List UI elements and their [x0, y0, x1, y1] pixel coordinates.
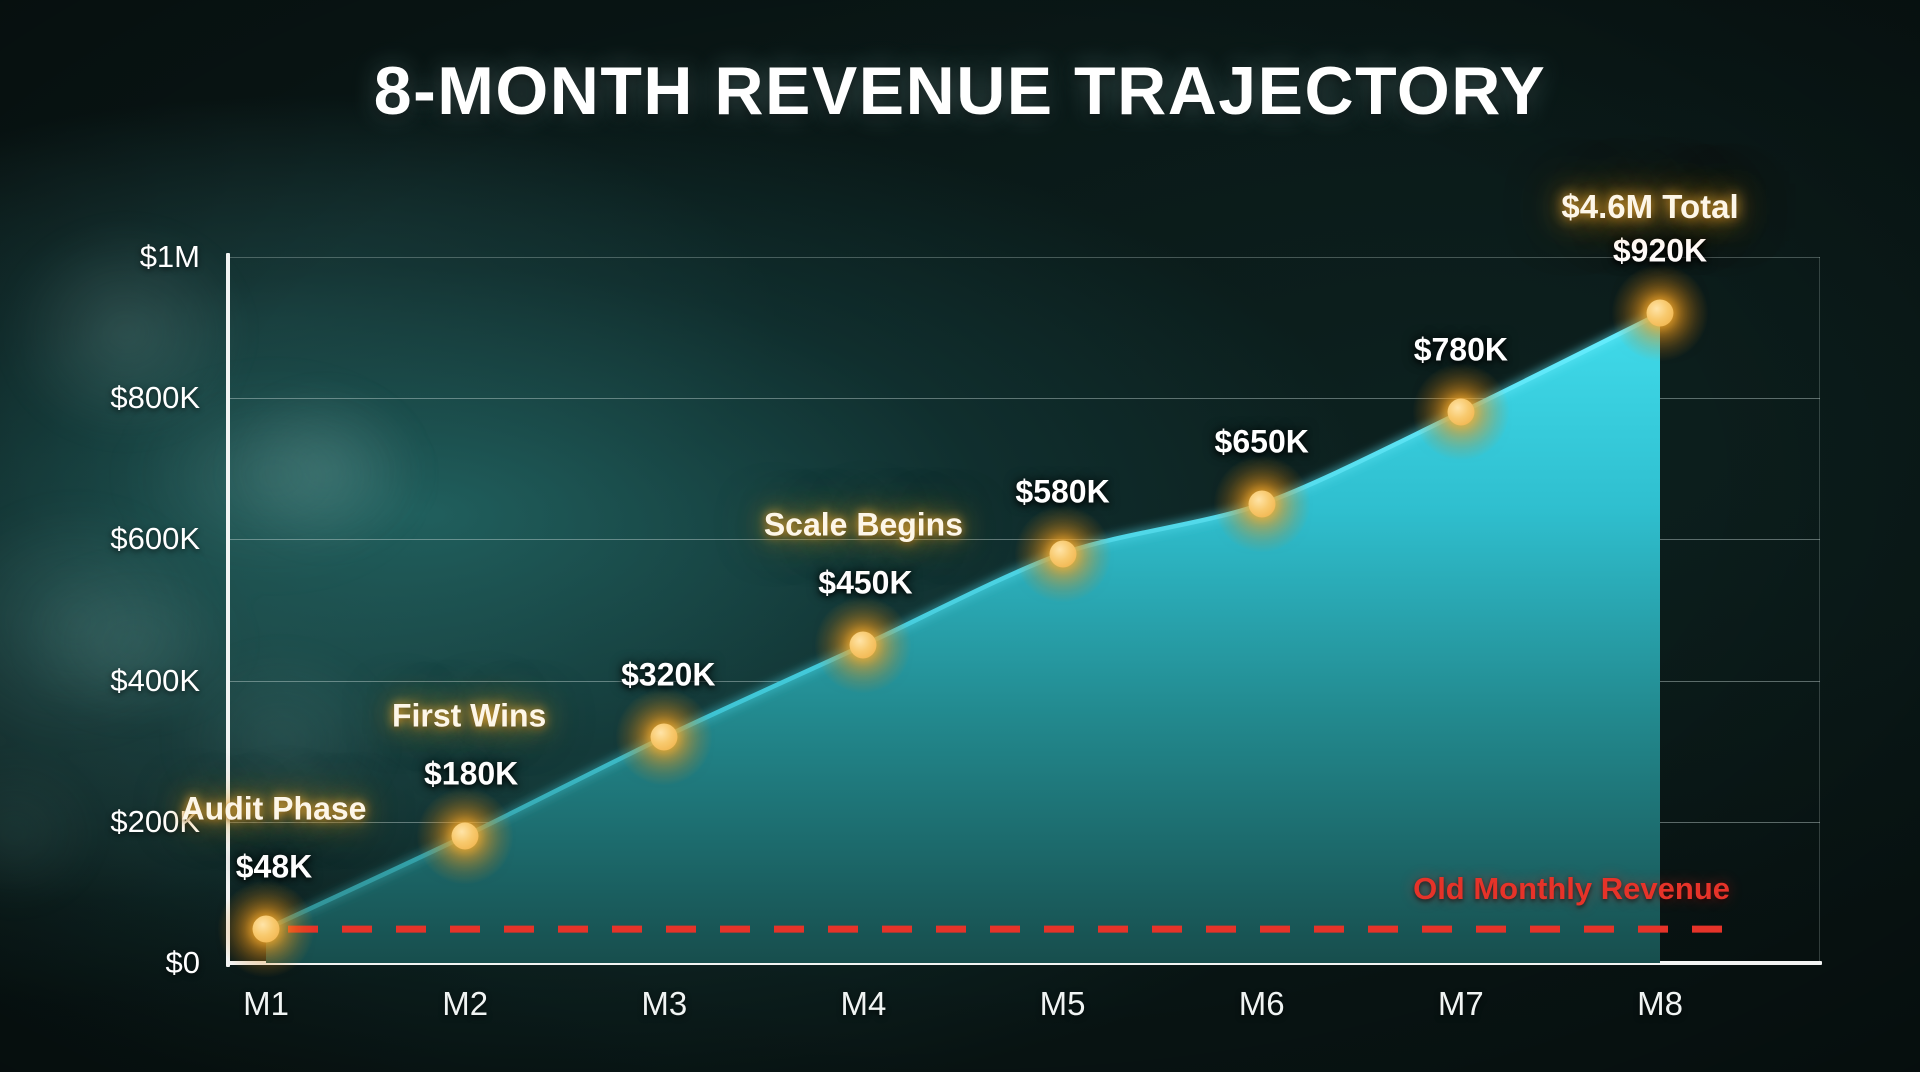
- y-tick-label: $400K: [110, 663, 200, 699]
- gridline: [228, 398, 1820, 399]
- value-label-m8: $920K: [1613, 233, 1707, 270]
- plot-right-edge: [1819, 257, 1820, 963]
- data-point-m6[interactable]: [1248, 491, 1275, 518]
- x-tick-label-m8: M8: [1637, 985, 1683, 1023]
- value-label-m3: $320K: [621, 657, 715, 694]
- value-label-m6: $650K: [1215, 424, 1309, 461]
- y-tick-label: $0: [166, 945, 200, 981]
- value-label-m4: $450K: [818, 565, 912, 602]
- y-tick-label: $1M: [140, 239, 200, 275]
- y-axis-spine: [226, 253, 230, 967]
- y-tick-label: $600K: [110, 521, 200, 557]
- total-annotation: $4.6M Total: [1561, 188, 1738, 226]
- data-point-m8[interactable]: [1647, 300, 1674, 327]
- gridline: [228, 681, 1820, 682]
- gridline: [228, 257, 1820, 258]
- value-label-m7: $780K: [1414, 332, 1508, 369]
- x-tick-label-m3: M3: [641, 985, 687, 1023]
- data-point-m2[interactable]: [452, 822, 479, 849]
- y-tick-label: $800K: [110, 380, 200, 416]
- plot-area: [228, 257, 1820, 963]
- data-point-m1[interactable]: [253, 916, 280, 943]
- x-axis-spine: [226, 961, 1822, 965]
- phase-annotation-m4: Scale Begins: [764, 507, 963, 544]
- value-label-m2: $180K: [424, 755, 518, 792]
- x-tick-label-m5: M5: [1040, 985, 1086, 1023]
- data-point-m7[interactable]: [1447, 399, 1474, 426]
- page-title: 8-MONTH REVENUE TRAJECTORY: [0, 52, 1920, 130]
- data-point-m3[interactable]: [651, 724, 678, 751]
- baseline-annotation-label: Old Monthly Revenue: [1413, 871, 1730, 907]
- value-label-m5: $580K: [1015, 473, 1109, 510]
- gridline: [228, 539, 1820, 540]
- phase-annotation-m2: First Wins: [392, 697, 546, 734]
- x-tick-label-m1: M1: [243, 985, 289, 1023]
- x-tick-label-m2: M2: [442, 985, 488, 1023]
- x-tick-label-m6: M6: [1239, 985, 1285, 1023]
- value-label-m1: $48K: [236, 849, 313, 886]
- data-point-m4[interactable]: [850, 632, 877, 659]
- x-tick-label-m7: M7: [1438, 985, 1484, 1023]
- phase-annotation-m1: Audit Phase: [182, 791, 367, 828]
- x-tick-label-m4: M4: [841, 985, 887, 1023]
- data-point-m5[interactable]: [1049, 540, 1076, 567]
